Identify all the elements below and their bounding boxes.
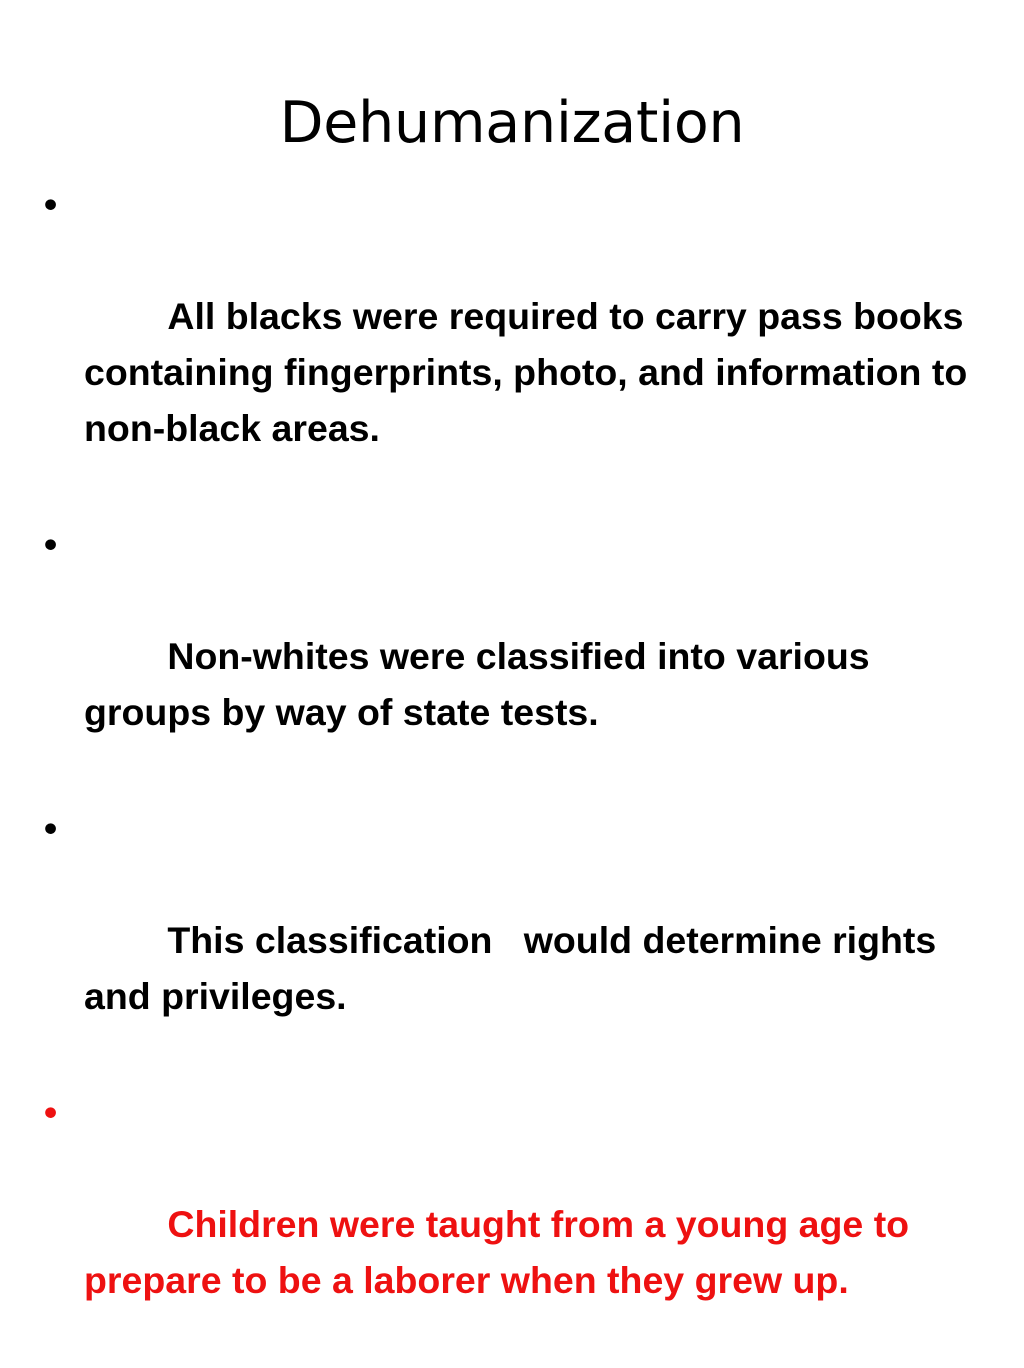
page-title: Dehumanization xyxy=(0,94,1024,154)
list-item: • All blacks were required to carry pass… xyxy=(36,176,992,512)
bullet-point-icon: • xyxy=(44,176,66,232)
list-item-text: Children were taught from a young age to… xyxy=(84,1203,920,1301)
slide-body: • All blacks were required to carry pass… xyxy=(36,176,992,1368)
list-item: • Non-whites were classified into variou… xyxy=(36,516,992,796)
list-item: • This classification would determine ri… xyxy=(36,800,992,1080)
bullet-list: • All blacks were required to carry pass… xyxy=(36,176,992,1364)
list-item-text: Non-whites were classified into various … xyxy=(84,635,880,733)
list-item: • Children were taught from a young age … xyxy=(36,1084,992,1364)
bullet-point-icon: • xyxy=(44,1084,66,1140)
bullet-point-icon: • xyxy=(44,516,66,572)
list-item-text: This classification would determine righ… xyxy=(84,919,947,1017)
list-item-text: All blacks were required to carry pass b… xyxy=(84,295,978,449)
presentation-slide: Dehumanization • All blacks were require… xyxy=(0,0,1024,768)
bullet-point-icon: • xyxy=(44,800,66,856)
